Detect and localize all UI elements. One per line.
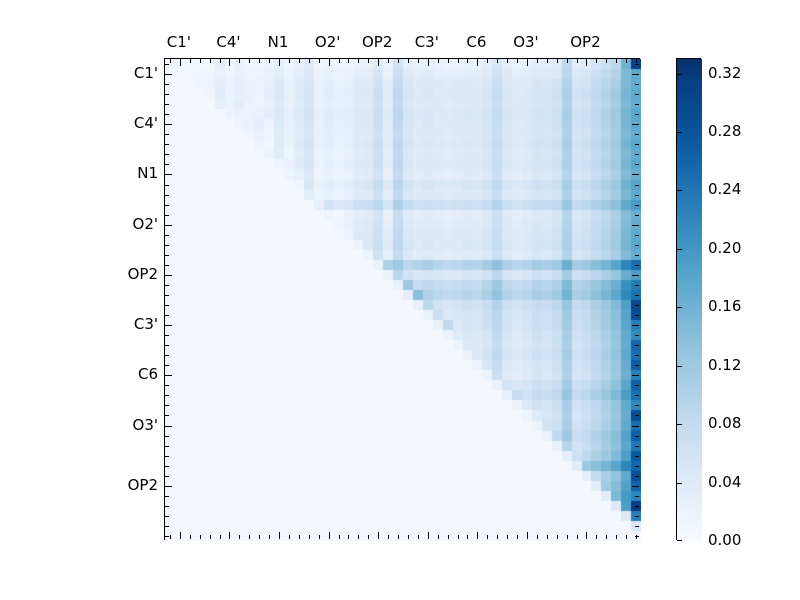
x-tick-mark bbox=[636, 59, 637, 63]
x-axis-label-6: C6 bbox=[466, 33, 486, 51]
y-axis-label-0: C1' bbox=[100, 64, 158, 82]
y-tick-mark bbox=[165, 466, 169, 467]
colorbar-tick-mark bbox=[677, 132, 682, 133]
x-tick-mark bbox=[239, 59, 240, 63]
y-tick-mark bbox=[635, 446, 639, 447]
y-tick-mark bbox=[635, 345, 639, 346]
colorbar-tick-mark bbox=[677, 366, 682, 367]
x-tick-mark bbox=[477, 532, 478, 539]
x-tick-mark bbox=[279, 532, 280, 539]
y-tick-mark bbox=[165, 315, 169, 316]
y-tick-mark bbox=[165, 446, 169, 447]
x-tick-mark bbox=[339, 59, 340, 63]
y-tick-mark bbox=[635, 144, 639, 145]
x-tick-mark bbox=[517, 535, 518, 539]
y-tick-mark bbox=[165, 195, 169, 196]
x-tick-mark bbox=[418, 59, 419, 63]
x-tick-mark bbox=[190, 535, 191, 539]
x-tick-mark bbox=[339, 535, 340, 539]
y-axis-label-6: C6 bbox=[100, 365, 158, 383]
x-tick-mark bbox=[497, 59, 498, 63]
x-axis-label-4: OP2 bbox=[362, 33, 392, 51]
y-tick-mark bbox=[165, 164, 169, 165]
y-tick-mark bbox=[165, 506, 169, 507]
y-tick-mark bbox=[635, 64, 639, 65]
colorbar-label-1: 0.04 bbox=[708, 473, 741, 491]
y-tick-mark bbox=[635, 235, 639, 236]
x-tick-mark bbox=[467, 535, 468, 539]
x-tick-mark bbox=[557, 535, 558, 539]
x-tick-mark bbox=[259, 535, 260, 539]
x-tick-mark bbox=[527, 532, 528, 539]
y-tick-mark bbox=[165, 486, 172, 487]
y-tick-mark bbox=[165, 225, 172, 226]
y-tick-mark bbox=[165, 114, 169, 115]
x-tick-mark bbox=[557, 59, 558, 63]
y-axis-label-8: OP2 bbox=[100, 476, 158, 494]
x-tick-mark bbox=[358, 535, 359, 539]
y-tick-mark bbox=[165, 395, 169, 396]
x-tick-mark bbox=[626, 535, 627, 539]
x-tick-mark bbox=[319, 535, 320, 539]
y-tick-mark bbox=[635, 355, 639, 356]
y-axis-label-3: O2' bbox=[100, 215, 158, 233]
x-tick-mark bbox=[259, 59, 260, 63]
y-tick-mark bbox=[635, 195, 639, 196]
x-tick-mark bbox=[448, 535, 449, 539]
x-tick-mark bbox=[438, 59, 439, 63]
y-tick-mark bbox=[165, 375, 172, 376]
x-axis-label-0: C1' bbox=[167, 33, 191, 51]
x-tick-mark bbox=[458, 535, 459, 539]
x-tick-mark bbox=[577, 59, 578, 63]
y-tick-mark bbox=[165, 305, 169, 306]
y-tick-mark bbox=[165, 496, 169, 497]
y-tick-mark bbox=[632, 74, 639, 75]
y-tick-mark bbox=[165, 265, 169, 266]
y-tick-mark bbox=[635, 255, 639, 256]
x-tick-mark bbox=[388, 535, 389, 539]
colorbar-label-0: 0.00 bbox=[708, 531, 741, 549]
colorbar-label-6: 0.24 bbox=[708, 180, 741, 198]
x-tick-mark bbox=[418, 535, 419, 539]
x-tick-mark bbox=[319, 59, 320, 63]
y-tick-mark bbox=[165, 355, 169, 356]
y-tick-mark bbox=[635, 265, 639, 266]
y-axis-label-5: C3' bbox=[100, 315, 158, 333]
y-tick-mark bbox=[165, 134, 169, 135]
x-tick-mark bbox=[388, 59, 389, 63]
x-tick-mark bbox=[249, 59, 250, 63]
colorbar-axes bbox=[676, 58, 701, 540]
colorbar-tick-mark bbox=[677, 424, 682, 425]
y-tick-mark bbox=[635, 405, 639, 406]
y-tick-mark bbox=[165, 436, 169, 437]
x-tick-mark bbox=[378, 59, 379, 66]
y-tick-mark bbox=[165, 94, 169, 95]
colorbar-label-8: 0.32 bbox=[708, 64, 741, 82]
y-tick-mark bbox=[165, 295, 169, 296]
x-tick-mark bbox=[200, 535, 201, 539]
x-tick-mark bbox=[517, 59, 518, 63]
x-tick-mark bbox=[477, 59, 478, 66]
x-tick-mark bbox=[596, 535, 597, 539]
y-tick-mark bbox=[165, 345, 169, 346]
x-tick-mark bbox=[239, 535, 240, 539]
y-tick-mark bbox=[165, 74, 172, 75]
x-tick-mark bbox=[398, 59, 399, 63]
x-axis-label-1: C4' bbox=[216, 33, 240, 51]
x-tick-mark bbox=[368, 59, 369, 63]
y-tick-mark bbox=[165, 205, 169, 206]
y-tick-mark bbox=[165, 64, 169, 65]
x-tick-mark bbox=[289, 59, 290, 63]
x-tick-mark bbox=[586, 59, 587, 66]
colorbar-tick-mark bbox=[677, 540, 682, 541]
y-tick-mark bbox=[635, 164, 639, 165]
y-tick-mark bbox=[635, 526, 639, 527]
heatmap-figure: C1'C4'N1O2'OP2C3'C6O3'OP2 C1'C4'N1O2'OP2… bbox=[0, 0, 800, 600]
colorbar-label-3: 0.12 bbox=[708, 356, 741, 374]
colorbar-label-2: 0.08 bbox=[708, 414, 741, 432]
y-tick-mark bbox=[632, 375, 639, 376]
x-tick-mark bbox=[348, 535, 349, 539]
x-tick-mark bbox=[309, 59, 310, 63]
x-axis-label-3: O2' bbox=[315, 33, 340, 51]
y-tick-mark bbox=[165, 405, 169, 406]
x-axis-label-7: O3' bbox=[513, 33, 538, 51]
y-tick-mark bbox=[165, 285, 169, 286]
y-tick-mark bbox=[165, 415, 169, 416]
x-tick-mark bbox=[586, 532, 587, 539]
y-tick-mark bbox=[165, 185, 169, 186]
y-axis-label-4: OP2 bbox=[100, 265, 158, 283]
x-tick-mark bbox=[596, 59, 597, 63]
y-tick-mark bbox=[635, 104, 639, 105]
x-tick-mark bbox=[398, 535, 399, 539]
colorbar-tick-mark bbox=[677, 74, 682, 75]
x-tick-mark bbox=[348, 59, 349, 63]
y-tick-mark bbox=[635, 496, 639, 497]
y-tick-mark bbox=[635, 456, 639, 457]
x-tick-mark bbox=[448, 59, 449, 63]
y-tick-mark bbox=[632, 426, 639, 427]
x-tick-mark bbox=[299, 59, 300, 63]
x-tick-mark bbox=[279, 59, 280, 66]
x-tick-mark bbox=[606, 535, 607, 539]
colorbar-label-5: 0.20 bbox=[708, 239, 741, 257]
y-tick-mark bbox=[165, 215, 169, 216]
x-tick-mark bbox=[567, 59, 568, 63]
x-tick-mark bbox=[378, 532, 379, 539]
y-tick-mark bbox=[635, 94, 639, 95]
y-tick-mark bbox=[165, 144, 169, 145]
y-tick-mark bbox=[165, 536, 169, 537]
x-tick-mark bbox=[200, 59, 201, 63]
x-tick-mark bbox=[210, 535, 211, 539]
x-tick-mark bbox=[487, 59, 488, 63]
y-tick-mark bbox=[165, 84, 169, 85]
x-tick-mark bbox=[487, 535, 488, 539]
x-tick-mark bbox=[497, 535, 498, 539]
x-tick-mark bbox=[527, 59, 528, 66]
y-tick-mark bbox=[635, 516, 639, 517]
x-axis-label-5: C3' bbox=[415, 33, 439, 51]
y-tick-mark bbox=[165, 174, 172, 175]
heatmap-canvas bbox=[165, 59, 641, 541]
colorbar-label-7: 0.28 bbox=[708, 122, 741, 140]
x-tick-mark bbox=[170, 59, 171, 63]
y-tick-mark bbox=[635, 305, 639, 306]
y-tick-mark bbox=[635, 245, 639, 246]
y-tick-mark bbox=[635, 476, 639, 477]
y-tick-mark bbox=[165, 154, 169, 155]
y-tick-mark bbox=[635, 395, 639, 396]
y-tick-mark bbox=[165, 476, 169, 477]
x-tick-mark bbox=[507, 59, 508, 63]
y-tick-mark bbox=[165, 385, 169, 386]
x-tick-mark bbox=[229, 59, 230, 66]
heatmap-axes bbox=[164, 58, 640, 540]
x-tick-mark bbox=[269, 535, 270, 539]
y-tick-mark bbox=[165, 235, 169, 236]
colorbar-tick-mark bbox=[677, 483, 682, 484]
x-tick-mark bbox=[547, 59, 548, 63]
y-tick-mark bbox=[165, 275, 172, 276]
y-tick-mark bbox=[635, 506, 639, 507]
y-tick-mark bbox=[632, 225, 639, 226]
x-tick-mark bbox=[289, 535, 290, 539]
colorbar-tick-mark bbox=[677, 190, 682, 191]
colorbar-tick-mark bbox=[677, 307, 682, 308]
y-axis-label-1: C4' bbox=[100, 114, 158, 132]
y-tick-mark bbox=[165, 104, 169, 105]
y-tick-mark bbox=[165, 516, 169, 517]
y-tick-mark bbox=[165, 456, 169, 457]
x-tick-mark bbox=[249, 535, 250, 539]
y-tick-mark bbox=[635, 385, 639, 386]
y-tick-mark bbox=[635, 335, 639, 336]
y-tick-mark bbox=[635, 365, 639, 366]
x-tick-mark bbox=[299, 535, 300, 539]
x-tick-mark bbox=[547, 535, 548, 539]
y-axis-label-7: O3' bbox=[100, 416, 158, 434]
x-tick-mark bbox=[428, 532, 429, 539]
x-tick-mark bbox=[358, 59, 359, 63]
x-tick-mark bbox=[210, 59, 211, 63]
y-tick-mark bbox=[632, 325, 639, 326]
x-tick-mark bbox=[616, 59, 617, 63]
x-tick-mark bbox=[329, 532, 330, 539]
y-tick-mark bbox=[165, 426, 172, 427]
x-tick-mark bbox=[170, 535, 171, 539]
x-tick-mark bbox=[269, 59, 270, 63]
y-tick-mark bbox=[635, 436, 639, 437]
y-tick-mark bbox=[635, 84, 639, 85]
y-tick-mark bbox=[632, 174, 639, 175]
y-tick-mark bbox=[632, 275, 639, 276]
x-tick-mark bbox=[408, 535, 409, 539]
x-tick-mark bbox=[626, 59, 627, 63]
x-tick-mark bbox=[220, 59, 221, 63]
x-tick-mark bbox=[606, 59, 607, 63]
y-tick-mark bbox=[635, 134, 639, 135]
y-tick-mark bbox=[635, 114, 639, 115]
x-tick-mark bbox=[180, 532, 181, 539]
y-tick-mark bbox=[165, 245, 169, 246]
y-tick-mark bbox=[635, 295, 639, 296]
x-tick-mark bbox=[458, 59, 459, 63]
y-tick-mark bbox=[635, 215, 639, 216]
x-tick-mark bbox=[577, 535, 578, 539]
colorbar-label-4: 0.16 bbox=[708, 297, 741, 315]
x-tick-mark bbox=[229, 532, 230, 539]
x-tick-mark bbox=[180, 59, 181, 66]
y-tick-mark bbox=[635, 154, 639, 155]
x-tick-mark bbox=[438, 535, 439, 539]
y-tick-mark bbox=[632, 124, 639, 125]
y-tick-mark bbox=[635, 415, 639, 416]
y-tick-mark bbox=[165, 255, 169, 256]
y-tick-mark bbox=[635, 205, 639, 206]
y-tick-mark bbox=[632, 486, 639, 487]
x-tick-mark bbox=[507, 535, 508, 539]
x-axis-label-2: N1 bbox=[268, 33, 289, 51]
x-tick-mark bbox=[616, 535, 617, 539]
y-tick-mark bbox=[635, 315, 639, 316]
y-tick-mark bbox=[165, 124, 172, 125]
y-tick-mark bbox=[165, 526, 169, 527]
x-tick-mark bbox=[368, 535, 369, 539]
x-tick-mark bbox=[537, 59, 538, 63]
y-tick-mark bbox=[165, 325, 172, 326]
x-tick-mark bbox=[309, 535, 310, 539]
y-tick-mark bbox=[635, 285, 639, 286]
x-tick-mark bbox=[329, 59, 330, 66]
x-tick-mark bbox=[537, 535, 538, 539]
y-tick-mark bbox=[165, 335, 169, 336]
x-tick-mark bbox=[190, 59, 191, 63]
y-axis-label-2: N1 bbox=[100, 164, 158, 182]
y-tick-mark bbox=[165, 365, 169, 366]
y-tick-mark bbox=[635, 466, 639, 467]
x-axis-label-8: OP2 bbox=[570, 33, 600, 51]
y-tick-mark bbox=[635, 185, 639, 186]
x-tick-mark bbox=[567, 535, 568, 539]
x-tick-mark bbox=[408, 59, 409, 63]
x-tick-mark bbox=[220, 535, 221, 539]
y-tick-mark bbox=[635, 536, 639, 537]
x-tick-mark bbox=[428, 59, 429, 66]
x-tick-mark bbox=[467, 59, 468, 63]
colorbar-tick-mark bbox=[677, 249, 682, 250]
